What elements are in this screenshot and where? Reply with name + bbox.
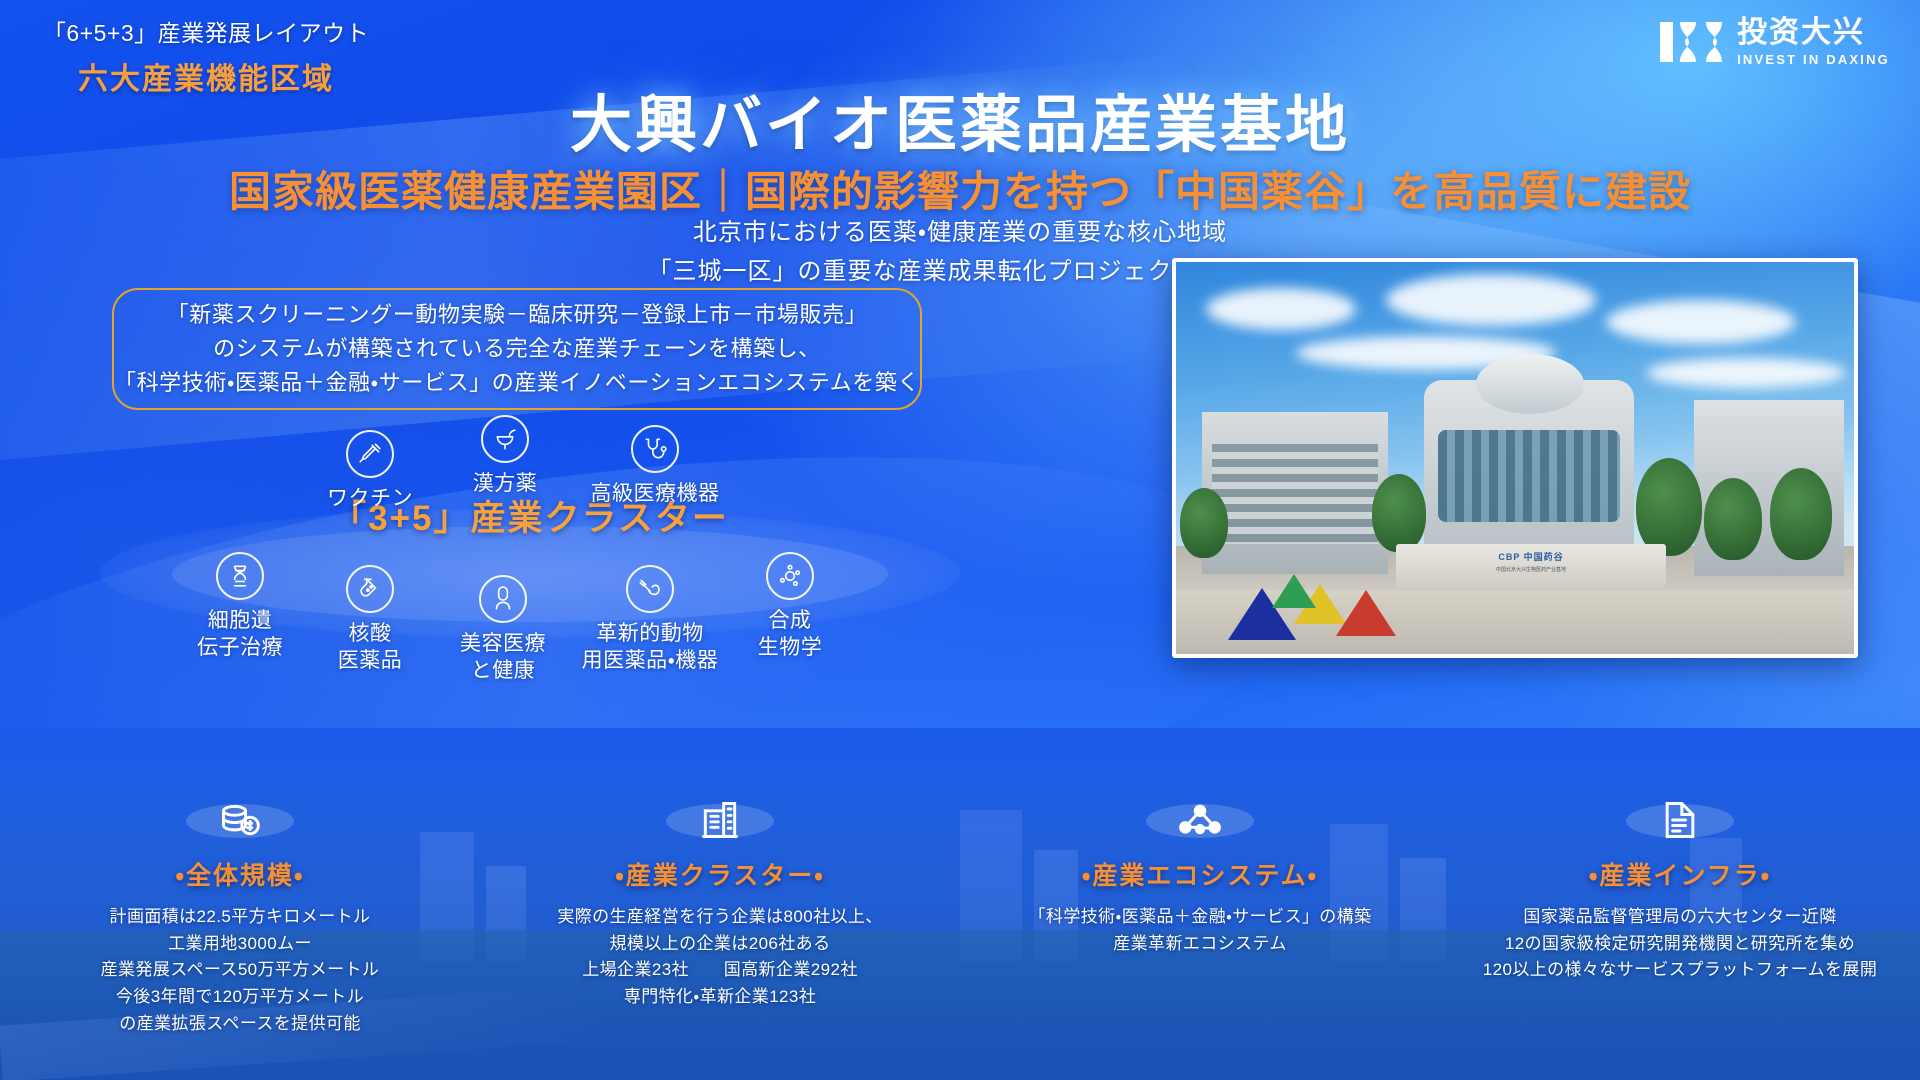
photo-building-rotunda — [1476, 354, 1584, 414]
sign-title: CBP 中国药谷 — [1396, 550, 1666, 563]
photo-building-glass — [1438, 430, 1620, 522]
page-title: 大興バイオ医薬品産業基地 — [0, 74, 1920, 164]
mortar-pestle-icon — [481, 415, 529, 463]
stat-industrial-cluster: ・産業クラスター・ 実際の生産経営を行う企業は800社以上、 規模以上の企業は2… — [480, 778, 960, 1038]
tree — [1180, 488, 1228, 558]
veterinary-icon — [626, 565, 674, 613]
cluster-node-beauty-health: 美容医療 と健康 — [418, 575, 588, 685]
cluster-node-herbal: 漢方薬 — [420, 415, 590, 498]
factory-building-icon — [694, 794, 746, 846]
plaza-sculpture — [1272, 574, 1316, 608]
cluster-node-synthetic-biology: 合成 生物学 — [705, 552, 875, 662]
cloud — [1386, 274, 1596, 326]
cluster-node-label: 美容医療 と健康 — [418, 631, 588, 685]
value-chain-callout-box: 「新薬スクリーニングー動物実験－臨床研究－登録上市－市場販売」 のシステムが構築… — [112, 288, 922, 410]
cloud — [1206, 288, 1356, 330]
ix-logo-icon — [1658, 20, 1726, 64]
cluster-node-label: 漢方薬 — [420, 471, 590, 498]
coins-money-icon — [214, 794, 266, 846]
tree — [1372, 474, 1426, 552]
stat-body: 計画面積は22.5平方キロメートル 工業用地3000ムー 産業発展スペース50万… — [18, 904, 462, 1038]
cloud — [1646, 358, 1846, 388]
cluster-node-medical-device: 高級医療機器 — [570, 425, 740, 508]
beauty-face-icon — [479, 575, 527, 623]
stats-row: ・全体規模・ 計画面積は22.5平方キロメートル 工業用地3000ムー 産業発展… — [0, 778, 1920, 1038]
tagline-line-1: 「6+5+3」産業発展レイアウト — [36, 14, 376, 48]
photo-building-left-windows — [1212, 444, 1378, 544]
logo-chinese-name: 投资大兴 — [1737, 18, 1890, 48]
cluster-node-label: 高級医療機器 — [570, 481, 740, 508]
documents-stack-icon — [1654, 794, 1706, 846]
subtitle-line-1: 北京市における医薬・健康産業の重要な核心地域 — [0, 214, 1920, 253]
poster-root: 「6+5+3」産業発展レイアウト 六大産業機能区域 投资大兴 INVEST IN… — [0, 0, 1920, 1080]
stethoscope-icon — [631, 425, 679, 473]
stat-industrial-ecosystem: ・産業エコシステム・ 「科学技術・医薬品＋金融・サービス」の構築 産業革新エコシ… — [960, 778, 1440, 1038]
subtitle-banner: 国家級医薬健康産業園区｜国際的影響力を持つ「中国薬谷」を高品質に建設 — [0, 158, 1920, 219]
stat-body: 実際の生産経営を行う企業は800社以上、 規模以上の企業は206社ある 上場企業… — [498, 904, 942, 1011]
callout-line-1: 「新薬スクリーニングー動物実験－臨床研究－登録上市－市場販売」 — [167, 298, 868, 332]
vaccine-syringe-icon — [346, 430, 394, 478]
brand-logo: 投资大兴 INVEST IN DAXING — [1658, 18, 1890, 66]
logo-english-name: INVEST IN DAXING — [1737, 53, 1890, 66]
campus-photo: CBP 中国药谷 中国北京大兴生物医药产业基地 — [1172, 258, 1858, 658]
stat-title: ・産業クラスター・ — [498, 856, 942, 892]
stat-overall-scale: ・全体規模・ 計画面積は22.5平方キロメートル 工業用地3000ムー 産業発展… — [0, 778, 480, 1038]
tree — [1704, 478, 1762, 560]
stat-body: 「科学技術・医薬品＋金融・サービス」の構築 産業革新エコシステム — [978, 904, 1422, 958]
plaza-sculpture — [1336, 590, 1396, 636]
stat-title: ・産業インフラ・ — [1458, 856, 1902, 892]
cluster-node-label: 合成 生物学 — [705, 608, 875, 662]
test-tube-icon — [346, 565, 394, 613]
sign-subtitle: 中国北京大兴生物医药产业基地 — [1396, 566, 1666, 573]
photo-entrance-sign: CBP 中国药谷 中国北京大兴生物医药产业基地 — [1396, 544, 1666, 588]
stat-industrial-infrastructure: ・産業インフラ・ 国家薬品監督管理局の六大センター近隣 12の国家級検定研究開発… — [1440, 778, 1920, 1038]
cloud — [1606, 300, 1796, 344]
stat-title: ・全体規模・ — [18, 856, 462, 892]
callout-line-3: 「科学技術・医薬品＋金融・サービス」の産業イノベーションエコシステムを築く — [114, 366, 920, 400]
network-nodes-icon — [1174, 794, 1226, 846]
molecule-gear-icon — [766, 552, 814, 600]
tree — [1636, 458, 1702, 556]
tree — [1770, 468, 1832, 560]
stat-title: ・産業エコシステム・ — [978, 856, 1422, 892]
dna-helix-icon — [216, 552, 264, 600]
callout-line-2: のシステムが構築されている完全な産業チェーンを構築し、 — [213, 332, 821, 366]
stat-body: 国家薬品監督管理局の六大センター近隣 12の国家級検定研究開発機関と研究所を集め… — [1458, 904, 1902, 985]
